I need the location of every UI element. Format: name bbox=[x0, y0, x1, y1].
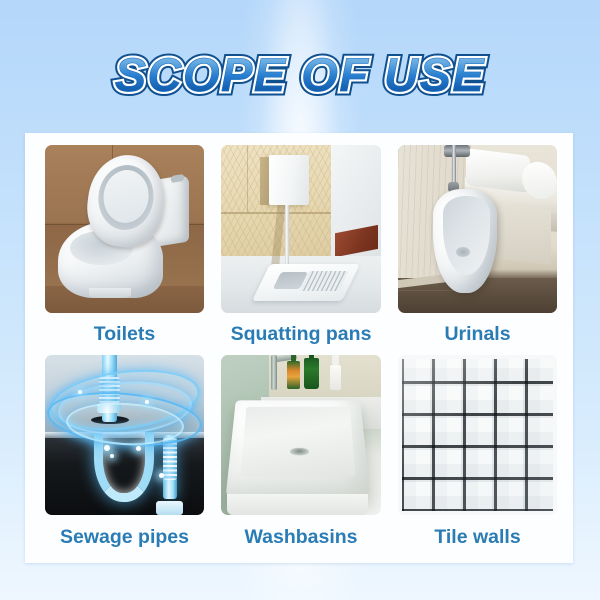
washbasin-photo bbox=[221, 355, 381, 515]
grid-item-tile-walls[interactable]: Tile walls bbox=[398, 355, 557, 559]
caption-sewage-pipes: Sewage pipes bbox=[45, 515, 204, 559]
squatting-pan-photo bbox=[221, 145, 381, 313]
infographic-page: SCOPE OF USE SCOPE OF USE SCOPE OF USE bbox=[0, 0, 600, 600]
grid-item-washbasins[interactable]: Washbasins bbox=[221, 355, 381, 559]
tile-wall-photo bbox=[398, 355, 557, 515]
urinal-photo bbox=[398, 145, 557, 313]
grid-item-sewage-pipes[interactable]: Sewage pipes bbox=[45, 355, 204, 559]
grid-item-squatting-pans[interactable]: Squatting pans bbox=[221, 145, 381, 355]
scope-grid: Toilets Squatting pans bbox=[45, 145, 557, 559]
caption-tile-walls: Tile walls bbox=[398, 515, 557, 559]
caption-squatting-pans: Squatting pans bbox=[221, 313, 381, 355]
page-title: SCOPE OF USE SCOPE OF USE SCOPE OF USE bbox=[0, 38, 600, 110]
grid-item-urinals[interactable]: Urinals bbox=[398, 145, 557, 355]
toilet-photo bbox=[45, 145, 204, 313]
caption-toilets: Toilets bbox=[45, 313, 204, 355]
grid-item-toilets[interactable]: Toilets bbox=[45, 145, 204, 355]
content-card: Toilets Squatting pans bbox=[25, 133, 573, 563]
title-fill-layer: SCOPE OF USE bbox=[115, 51, 486, 98]
caption-washbasins: Washbasins bbox=[221, 515, 381, 559]
caption-urinals: Urinals bbox=[398, 313, 557, 355]
page-title-text: SCOPE OF USE SCOPE OF USE SCOPE OF USE bbox=[115, 51, 486, 98]
sewage-pipe-photo bbox=[45, 355, 204, 515]
